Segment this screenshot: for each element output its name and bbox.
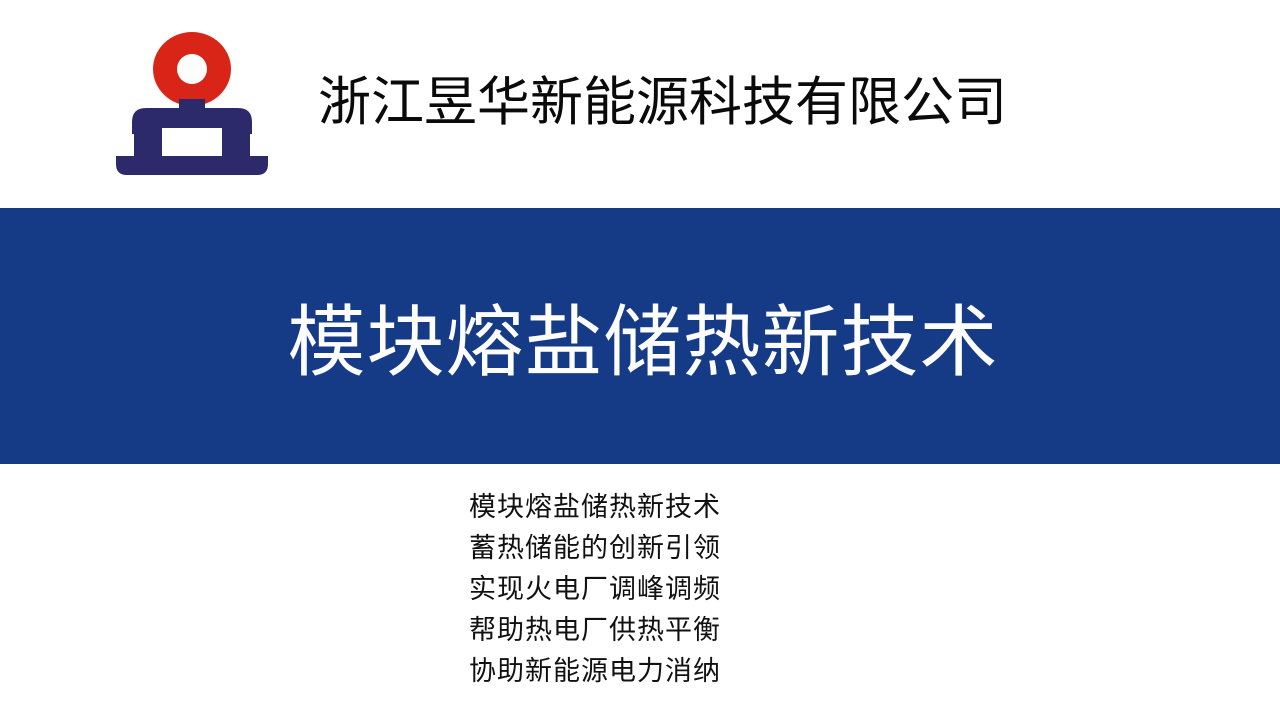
tagline-item: 协助新能源电力消纳 <box>0 651 1190 692</box>
company-name-title: 浙江昱华新能源科技有限公司 <box>318 68 1018 138</box>
slide-header: 浙江昱华新能源科技有限公司 <box>0 0 1280 208</box>
tagline-item: 帮助热电厂供热平衡 <box>0 610 1190 651</box>
slide-main-title: 模块熔盐储热新技术 <box>0 208 1280 464</box>
tagline-item: 实现火电厂调峰调频 <box>0 569 1190 610</box>
title-banner: 模块熔盐储热新技术 <box>0 208 1280 464</box>
tagline-item: 蓄热储能的创新引领 <box>0 528 1190 569</box>
company-logo-icon <box>112 30 272 175</box>
presentation-slide: 浙江昱华新能源科技有限公司 模块熔盐储热新技术 模块熔盐储热新技术 蓄热储能的创… <box>0 0 1280 720</box>
logo-ring-shape <box>153 32 231 106</box>
logo-base-shape <box>116 99 268 175</box>
tagline-item: 模块熔盐储热新技术 <box>0 487 1190 528</box>
tagline-list: 模块熔盐储热新技术 蓄热储能的创新引领 实现火电厂调峰调频 帮助热电厂供热平衡 … <box>0 487 1190 692</box>
